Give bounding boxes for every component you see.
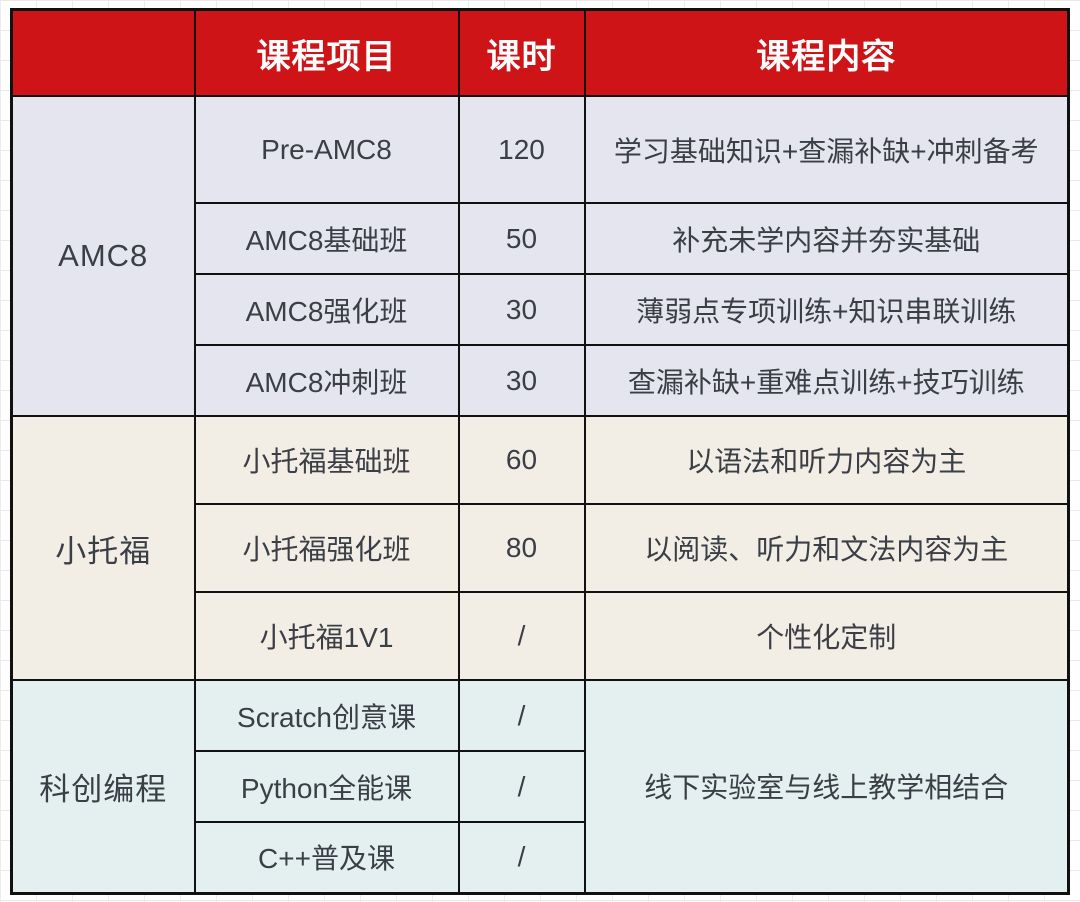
course-cell: Pre-AMC8 [195, 96, 459, 203]
content-cell: 学习基础知识+查漏补缺+冲刺备考 [585, 96, 1069, 203]
course-cell: AMC8冲刺班 [195, 345, 459, 416]
course-cell: AMC8基础班 [195, 203, 459, 274]
category-cell-toefl-junior: 小托福 [12, 416, 195, 680]
course-table-container: 课程项目 课时 课程内容 AMC8 Pre-AMC8 120 学习基础知识+查漏… [10, 8, 1067, 893]
hours-cell: 30 [459, 345, 585, 416]
content-cell: 个性化定制 [585, 592, 1069, 680]
hours-cell: / [459, 751, 585, 822]
content-cell: 以阅读、听力和文法内容为主 [585, 504, 1069, 592]
hours-cell: / [459, 822, 585, 893]
content-cell: 薄弱点专项训练+知识串联训练 [585, 274, 1069, 345]
hours-cell: / [459, 680, 585, 751]
category-cell-coding: 科创编程 [12, 680, 195, 893]
course-cell: 小托福1V1 [195, 592, 459, 680]
course-cell: 小托福强化班 [195, 504, 459, 592]
content-cell: 查漏补缺+重难点训练+技巧训练 [585, 345, 1069, 416]
table-row: 科创编程 Scratch创意课 / 线下实验室与线上教学相结合 [12, 680, 1069, 751]
content-cell: 以语法和听力内容为主 [585, 416, 1069, 504]
content-cell: 补充未学内容并夯实基础 [585, 203, 1069, 274]
table-row: 小托福 小托福基础班 60 以语法和听力内容为主 [12, 416, 1069, 504]
table-header-row: 课程项目 课时 课程内容 [12, 10, 1069, 97]
course-cell: 小托福基础班 [195, 416, 459, 504]
table-row: AMC8 Pre-AMC8 120 学习基础知识+查漏补缺+冲刺备考 [12, 96, 1069, 203]
course-table: 课程项目 课时 课程内容 AMC8 Pre-AMC8 120 学习基础知识+查漏… [10, 8, 1070, 895]
hours-cell: / [459, 592, 585, 680]
header-cell-content: 课程内容 [585, 10, 1069, 97]
category-cell-amc8: AMC8 [12, 96, 195, 416]
header-cell-blank [12, 10, 195, 97]
course-cell: C++普及课 [195, 822, 459, 893]
course-cell: AMC8强化班 [195, 274, 459, 345]
header-cell-hours: 课时 [459, 10, 585, 97]
course-cell: Scratch创意课 [195, 680, 459, 751]
course-cell: Python全能课 [195, 751, 459, 822]
hours-cell: 50 [459, 203, 585, 274]
hours-cell: 30 [459, 274, 585, 345]
header-cell-course: 课程项目 [195, 10, 459, 97]
hours-cell: 120 [459, 96, 585, 203]
hours-cell: 60 [459, 416, 585, 504]
content-cell-merged: 线下实验室与线上教学相结合 [585, 680, 1069, 893]
hours-cell: 80 [459, 504, 585, 592]
